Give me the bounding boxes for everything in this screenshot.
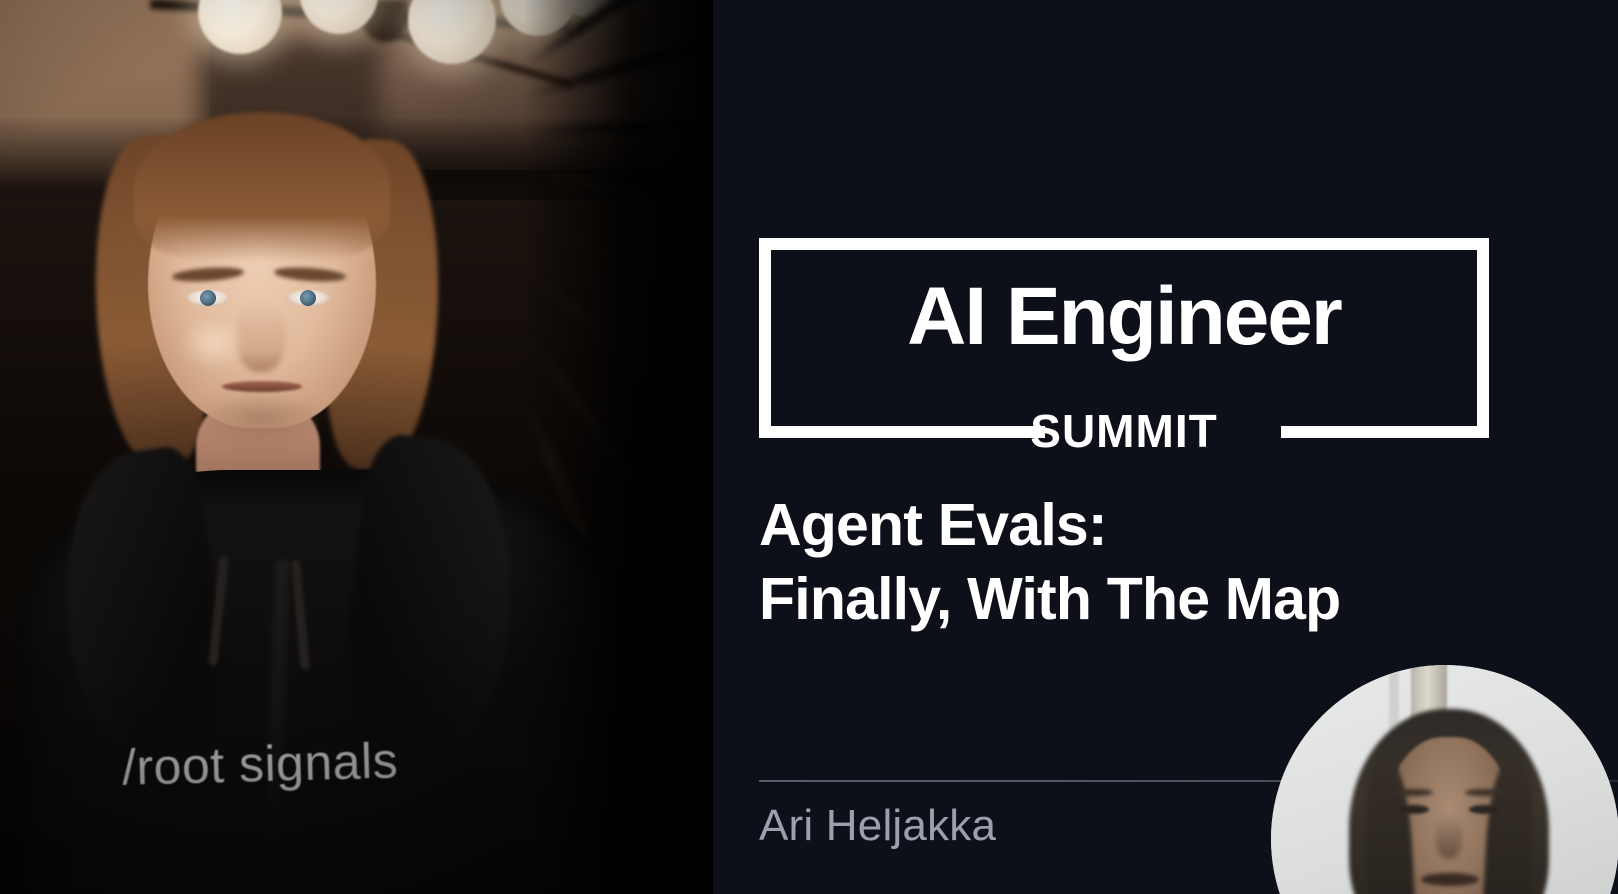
hair-top [134,112,390,262]
webcam-person-eyebrow-left [1395,789,1433,796]
webcam-person-eye-right [1469,805,1499,814]
webcam-person-mouth [1421,873,1479,886]
logo-wordmark: AI Engineer [759,276,1489,358]
webcam-person-nose [1436,815,1462,859]
chin-shadow [196,392,326,444]
talk-title: Agent Evals: Finally, With The Map [759,488,1579,637]
speaker-name: Ari Heljakka [759,800,996,853]
talk-title-line-2: Finally, With The Map [759,562,1579,636]
webcam-overlay[interactable] [1271,665,1618,894]
iris-left [200,290,216,306]
webcam-person-eyebrow-right [1465,789,1503,796]
talk-title-line-1: Agent Evals: [759,488,1579,562]
logo-frame-top [759,238,1489,250]
mouth [222,381,302,392]
speaker-photo-panel: /root signals [0,0,713,894]
iris-right [300,290,316,306]
speaker-portrait: /root signals [0,0,713,894]
webcam-background-post-thin [1389,665,1399,729]
presentation-stage: /root signals AI Engineer SUMMIT Agent E… [0,0,1618,894]
cheek-highlight [178,316,248,370]
hoodie-brand-wordmark: /root signals [121,723,483,802]
ai-engineer-summit-logo: AI Engineer SUMMIT [759,238,1489,438]
logo-subword: SUMMIT [759,408,1489,454]
title-slide: AI Engineer SUMMIT Agent Evals: Finally,… [713,0,1618,894]
webcam-person-eye-left [1399,805,1429,814]
